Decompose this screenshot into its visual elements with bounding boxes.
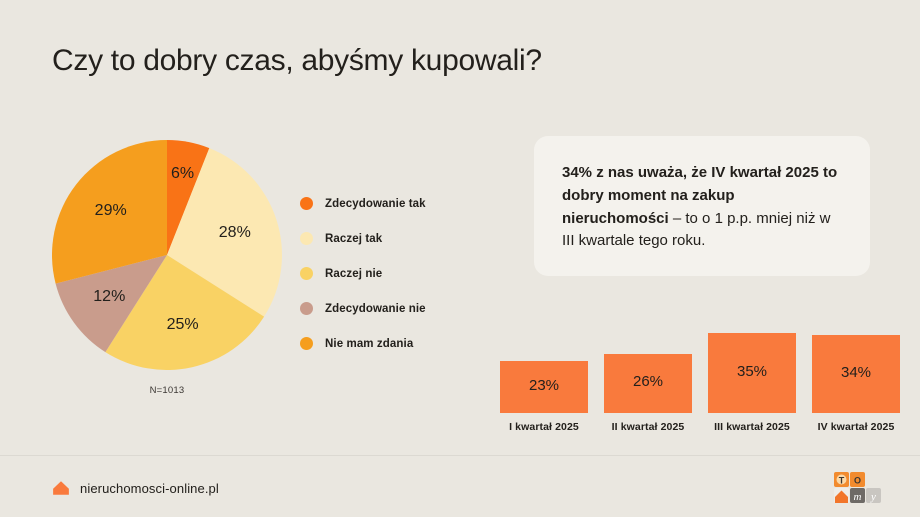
house-icon: [52, 479, 70, 497]
pie-sample-size: N=1013: [150, 385, 185, 396]
legend-dot-icon: [300, 337, 313, 350]
bar-caption-label: I kwartał 2025: [509, 421, 579, 433]
pie-slice-label: 29%: [95, 202, 127, 220]
page-title: Czy to dobry czas, abyśmy kupowali?: [52, 44, 542, 78]
callout-box: 34% z nas uważa, że IV kwartał 2025 to d…: [534, 136, 870, 276]
bar-caption-label: IV kwartał 2025: [818, 421, 895, 433]
footer-divider: [0, 455, 920, 456]
legend-item-label: Zdecydowanie tak: [325, 198, 426, 210]
svg-text:T: T: [839, 476, 845, 486]
footer-brand-label: nieruchomosci-online.pl: [80, 481, 219, 496]
pie-slice-label: 28%: [219, 224, 251, 242]
bar-chart: 23%I kwartał 202526%II kwartał 202535%II…: [500, 328, 890, 433]
bar-rect: 35%: [708, 333, 796, 413]
bar-rect: 34%: [812, 335, 900, 413]
legend-item-zdecydowanie-tak[interactable]: Zdecydowanie tak: [300, 186, 510, 221]
legend-item-label: Zdecydowanie nie: [325, 303, 426, 315]
svg-text:m: m: [854, 491, 862, 503]
bar-column[interactable]: 26%II kwartał 2025: [604, 354, 692, 433]
bar-column[interactable]: 34%IV kwartał 2025: [812, 335, 900, 433]
svg-text:O: O: [854, 476, 861, 486]
legend-item-label: Raczej tak: [325, 233, 382, 245]
legend-dot-icon: [300, 232, 313, 245]
pie-legend: Zdecydowanie tak Raczej tak Raczej nie Z…: [300, 186, 510, 361]
legend-item-nie-mam-zdania[interactable]: Nie mam zdania: [300, 326, 510, 361]
bar-value-label: 34%: [841, 364, 871, 385]
pie-chart: 6%28%25%12%29% N=1013: [52, 140, 282, 400]
bar-rect: 23%: [500, 361, 588, 413]
callout-text: 34% z nas uważa, że IV kwartał 2025 to d…: [562, 162, 842, 253]
footer-brand[interactable]: nieruchomosci-online.pl: [52, 479, 219, 497]
bar-caption-label: III kwartał 2025: [714, 421, 790, 433]
bar-column[interactable]: 23%I kwartał 2025: [500, 361, 588, 433]
legend-dot-icon: [300, 267, 313, 280]
legend-dot-icon: [300, 302, 313, 315]
pie-chart-svg: [52, 140, 282, 370]
bar-rect: 26%: [604, 354, 692, 413]
tomy-logo[interactable]: T O m y: [826, 470, 882, 508]
pie-slice-label: 12%: [93, 288, 125, 306]
bar-caption-label: II kwartał 2025: [612, 421, 685, 433]
legend-item-raczej-nie[interactable]: Raczej nie: [300, 256, 510, 291]
bar-value-label: 35%: [737, 363, 767, 384]
svg-text:y: y: [870, 491, 876, 503]
legend-item-zdecydowanie-nie[interactable]: Zdecydowanie nie: [300, 291, 510, 326]
legend-item-label: Nie mam zdania: [325, 338, 413, 350]
bar-value-label: 23%: [529, 377, 559, 398]
pie-slice-label: 6%: [171, 165, 194, 183]
infographic-page: Czy to dobry czas, abyśmy kupowali? 6%28…: [0, 0, 920, 517]
bar-column[interactable]: 35%III kwartał 2025: [708, 333, 796, 433]
legend-item-raczej-tak[interactable]: Raczej tak: [300, 221, 510, 256]
pie-slice-label: 25%: [167, 316, 199, 334]
bar-value-label: 26%: [633, 373, 663, 394]
legend-dot-icon: [300, 197, 313, 210]
legend-item-label: Raczej nie: [325, 268, 382, 280]
